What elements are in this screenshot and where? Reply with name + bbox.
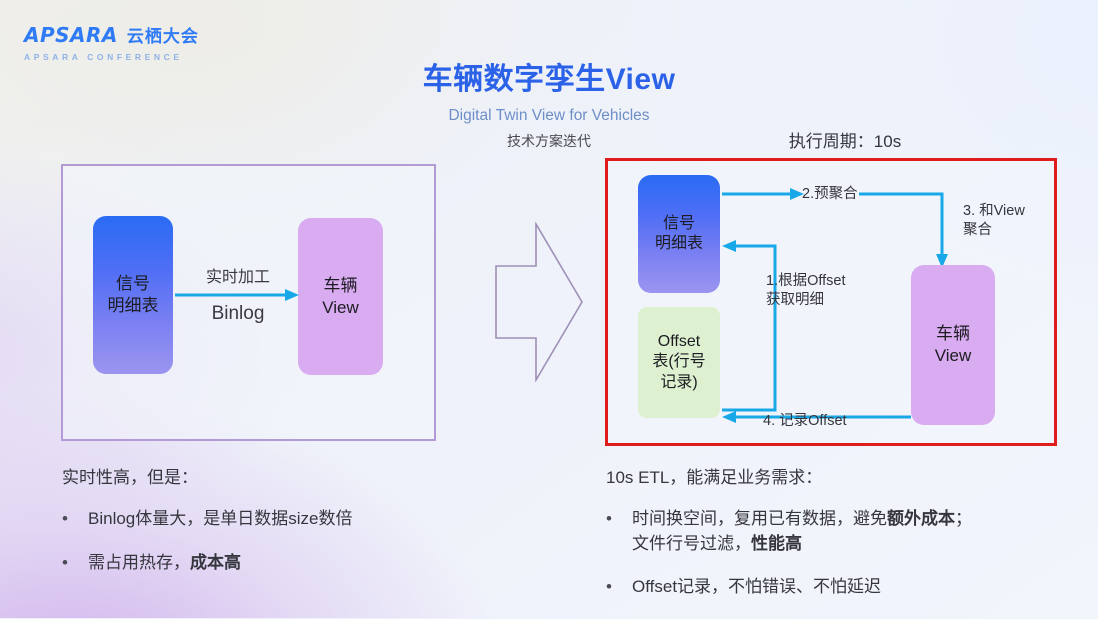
list-item: • 需占用热存，成本高 xyxy=(62,551,532,576)
list-item-text: Offset记录，不怕错误、不怕延迟 xyxy=(632,575,881,600)
node-label-line1: 车辆 xyxy=(936,323,970,345)
page-title: 车辆数字孪生View xyxy=(0,54,1098,98)
label-step4: 4. 记录Offset xyxy=(763,412,847,431)
bullet-icon: • xyxy=(606,575,632,600)
bullet-icon: • xyxy=(606,507,632,556)
label-step3-line2: 聚合 xyxy=(963,221,1025,240)
arrow-step1-fetch-detail-icon xyxy=(722,240,775,410)
list-item-text: 时间换空间，复用已有数据，避免额外成本；文件行号过滤，性能高 xyxy=(632,507,972,556)
label-step3-line1: 3. 和View xyxy=(963,202,1025,221)
node-label-line3: 记录) xyxy=(660,373,697,393)
footer-left-list: • Binlog体量大，是单日数据size数倍 • 需占用热存，成本高 xyxy=(62,507,532,575)
bullet-icon: • xyxy=(62,551,88,576)
footer-left-block: 实时性高，但是： • Binlog体量大，是单日数据size数倍 • 需占用热存… xyxy=(62,463,532,594)
footer-left-heading: 实时性高，但是： xyxy=(62,463,532,488)
label-step1: 1.根据Offset 获取明细 xyxy=(766,272,846,311)
list-item: • Binlog体量大，是单日数据size数倍 xyxy=(62,507,532,532)
footer-right-list: • 时间换空间，复用已有数据，避免额外成本；文件行号过滤，性能高 • Offse… xyxy=(606,507,1076,600)
node-label-line1: 车辆 xyxy=(324,275,358,297)
right-node-offset-table: Offset 表(行号 记录) xyxy=(638,307,720,418)
list-item-text-tail: ； xyxy=(955,509,972,528)
node-label-line2: 明细表 xyxy=(108,295,159,317)
node-label-line2: 明细表 xyxy=(655,234,703,254)
label-step3: 3. 和View 聚合 xyxy=(963,202,1025,241)
list-item-text: 需占用热存，成本高 xyxy=(88,551,241,576)
list-item-text: Binlog体量大，是单日数据size数倍 xyxy=(88,507,353,532)
list-item-text-plain: 时间换空间，复用已有数据，避免 xyxy=(632,509,887,528)
left-flow-arrow-icon xyxy=(175,288,299,302)
node-label-line2: View xyxy=(322,297,359,319)
page-subtitle-en: Digital Twin View for Vehicles xyxy=(0,107,1098,125)
left-node-vehicle-view: 车辆 View xyxy=(298,218,383,375)
right-node-signal-detail-table: 信号 明细表 xyxy=(638,175,720,293)
logo-apsara-wordmark: APSARA xyxy=(24,23,118,47)
node-label-line1: 信号 xyxy=(663,214,695,234)
left-node-signal-detail-table: 信号 明细表 xyxy=(93,216,173,374)
logo-chinese-name: 云栖大会 xyxy=(127,22,199,47)
list-item-text-bold: 额外成本 xyxy=(887,509,955,528)
list-item-text-bold: 成本高 xyxy=(190,553,241,572)
list-item-text-plain2: 文件行号过滤， xyxy=(632,534,751,553)
label-step1-line1: 1.根据Offset xyxy=(766,272,846,291)
bullet-icon: • xyxy=(62,507,88,532)
label-step1-line2: 获取明细 xyxy=(766,291,846,310)
footer-right-heading: 10s ETL，能满足业务需求： xyxy=(606,463,1076,488)
node-label-line2: View xyxy=(935,345,972,367)
list-item: • 时间换空间，复用已有数据，避免额外成本；文件行号过滤，性能高 xyxy=(606,507,1076,556)
footer-right-block: 10s ETL，能满足业务需求： • 时间换空间，复用已有数据，避免额外成本；文… xyxy=(606,463,1076,619)
slide-canvas: APSARA 云栖大会 APSARA CONFERENCE 车辆数字孪生View… xyxy=(0,0,1098,618)
right-diagram-header: 执行周期：10s xyxy=(700,127,990,152)
label-step2: 2.预聚合 xyxy=(802,185,858,204)
node-label-line1: 信号 xyxy=(116,273,150,295)
node-label-line1: Offset xyxy=(658,332,700,352)
left-arrow-label-realtime: 实时加工 xyxy=(177,263,299,287)
node-label-line2: 表(行号 xyxy=(652,352,705,372)
list-item-text-bold2: 性能高 xyxy=(751,534,802,553)
list-item-text-plain: 需占用热存， xyxy=(88,553,190,572)
right-node-vehicle-view: 车辆 View xyxy=(911,265,995,425)
list-item: • Offset记录，不怕错误、不怕延迟 xyxy=(606,575,1076,600)
left-arrow-label-binlog: Binlog xyxy=(177,303,299,325)
transition-arrow-icon xyxy=(490,222,586,382)
